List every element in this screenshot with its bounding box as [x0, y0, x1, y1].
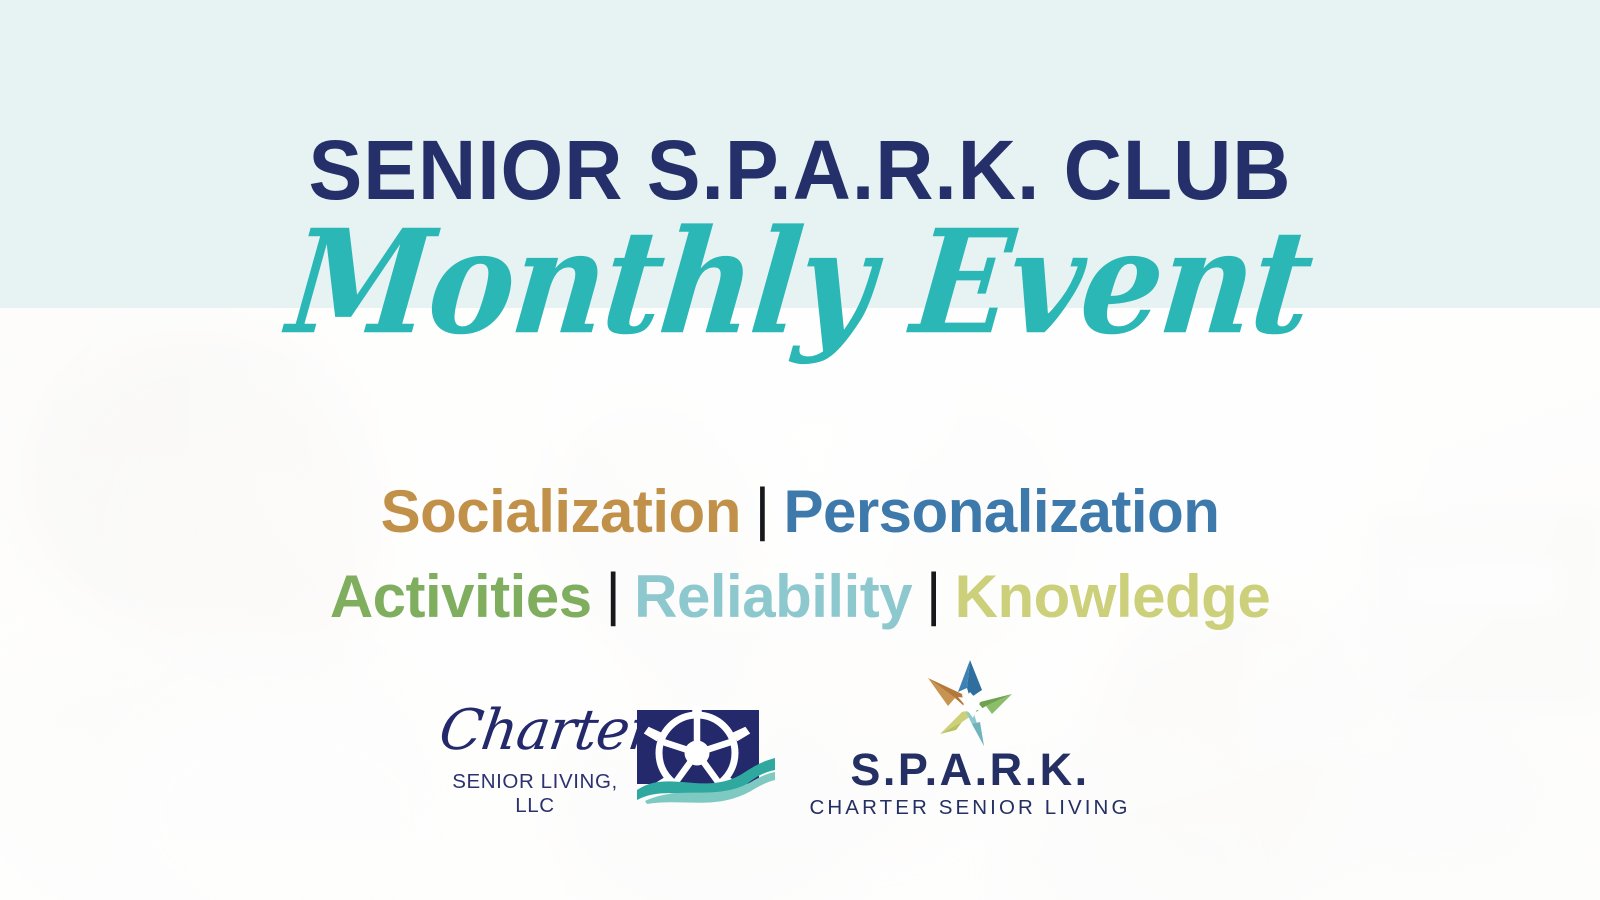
logo-row: Charter SENIOR LIVING, LLC: [0, 650, 1600, 830]
value-personalization: Personalization: [783, 478, 1219, 545]
values-line-2: Activities|Reliability|Knowledge: [0, 555, 1600, 640]
charter-tagline: SENIOR LIVING, LLC: [440, 770, 630, 818]
spark-star-icon: [800, 656, 1140, 748]
charter-wordmark: Charter: [435, 698, 634, 763]
value-socialization: Socialization: [381, 478, 741, 545]
spark-acronym: S.P.A.R.K.: [800, 744, 1140, 796]
value-separator: |: [592, 562, 635, 627]
values-tagline: Socialization|Personalization Activities…: [0, 470, 1600, 640]
value-activities: Activities: [330, 563, 592, 630]
spark-subtitle: CHARTER SENIOR LIVING: [800, 796, 1140, 820]
page-subtitle: Monthly Event: [0, 208, 1600, 359]
value-reliability: Reliability: [634, 563, 912, 630]
spark-logo: S.P.A.R.K. CHARTER SENIOR LIVING: [800, 656, 1140, 821]
ships-wheel-icon: [635, 706, 775, 804]
value-separator: |: [741, 477, 784, 542]
flyer-canvas: SENIOR S.P.A.R.K. CLUB Monthly Event Soc…: [0, 0, 1600, 900]
value-knowledge: Knowledge: [955, 563, 1271, 630]
value-separator: |: [912, 562, 955, 627]
charter-senior-living-logo: Charter SENIOR LIVING, LLC: [440, 698, 780, 818]
values-line-1: Socialization|Personalization: [0, 470, 1600, 555]
